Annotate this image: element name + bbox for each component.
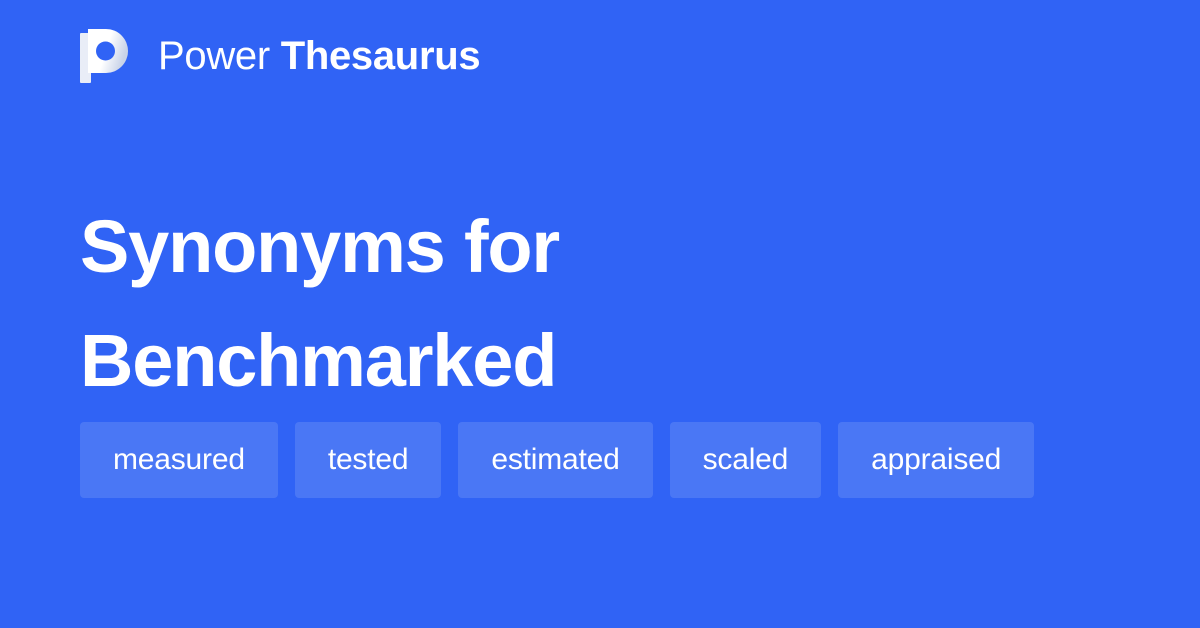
synonym-tag[interactable]: measured xyxy=(80,422,278,498)
synonym-tag[interactable]: appraised xyxy=(838,422,1034,498)
brand-name-part-two: Thesaurus xyxy=(281,34,481,78)
power-thesaurus-b-logo-icon xyxy=(80,29,132,83)
synonym-tag[interactable]: scaled xyxy=(670,422,822,498)
brand-header[interactable]: Power Thesaurus xyxy=(80,28,480,84)
page-title-line-1: Synonyms for xyxy=(80,190,1120,304)
synonyms-share-card: Power Thesaurus Synonyms for Benchmarked… xyxy=(0,0,1200,628)
page-title-line-2: Benchmarked xyxy=(80,304,1120,418)
synonym-tag[interactable]: tested xyxy=(295,422,442,498)
brand-name-part-one: Power xyxy=(158,34,281,78)
page-title: Synonyms for Benchmarked xyxy=(80,190,1120,418)
synonym-tag-list: measured tested estimated scaled apprais… xyxy=(80,422,1120,498)
brand-name: Power Thesaurus xyxy=(158,36,480,76)
synonym-tag[interactable]: estimated xyxy=(458,422,652,498)
